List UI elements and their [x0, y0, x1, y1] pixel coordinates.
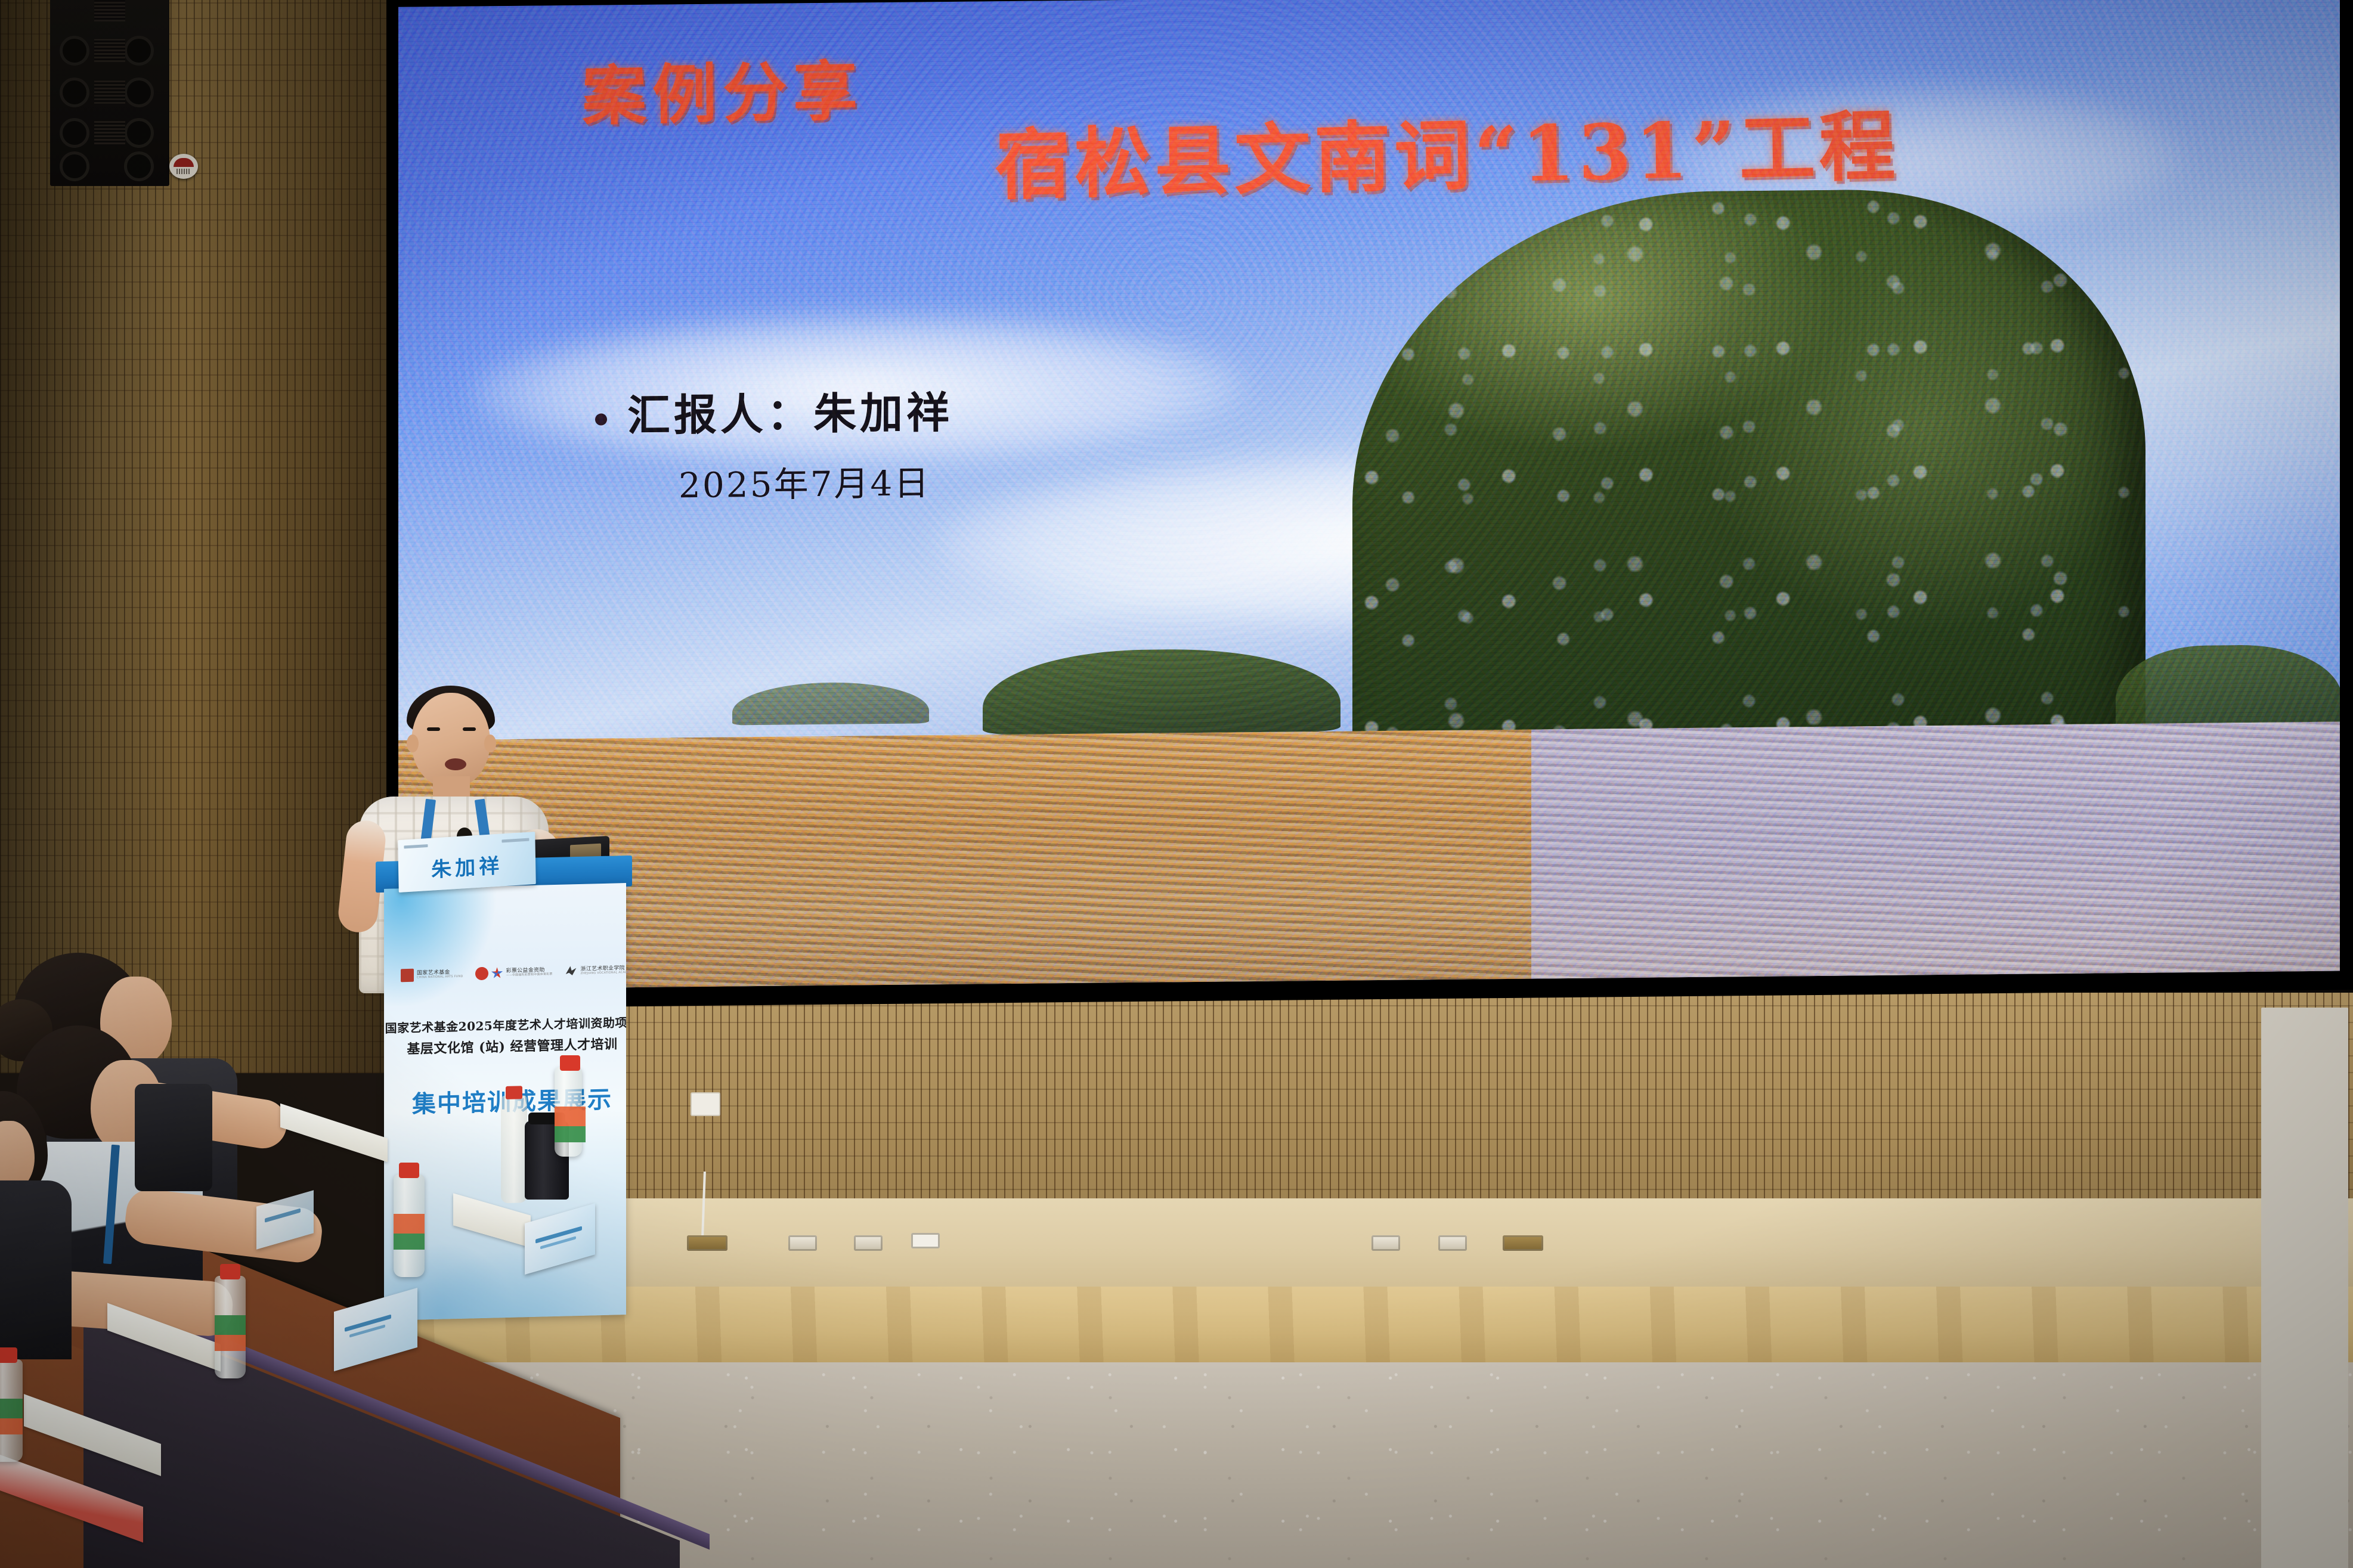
bottle-cap [399, 1163, 419, 1178]
screenshot-root: 案例分享 宿松县文南词“131”工程 汇报人：朱加祥 2025年7月4日 [0, 0, 2353, 1568]
presenter-name-card: 朱加祥 [398, 832, 536, 893]
wall-socket-plate [691, 1092, 720, 1116]
water-bottle [215, 1276, 246, 1378]
karst-hill-island [1352, 187, 2145, 794]
slide-section-label: 案例分享 [581, 58, 863, 131]
presenter-eye [463, 727, 476, 731]
audience-foreground [0, 942, 596, 1568]
chair-back [135, 1084, 212, 1191]
presenter-eye [427, 727, 440, 731]
audience-top [0, 1180, 72, 1359]
presenter-text: 汇报人：朱加祥 [627, 387, 953, 441]
handout-paper [453, 1193, 531, 1247]
bottle-label [555, 1107, 586, 1142]
tent-name-card [525, 1203, 595, 1275]
floor-outlet [1371, 1235, 1400, 1251]
handout-paper [280, 1104, 388, 1162]
presenter-name-text: 朱加祥 [398, 847, 536, 885]
presenter-head [411, 693, 490, 787]
floor-outlet [854, 1235, 883, 1251]
bottle-cap [0, 1347, 17, 1363]
speaker-grille [50, 0, 169, 186]
bottle-cap [220, 1264, 240, 1279]
fire-alarm-strobe-icon [169, 154, 198, 179]
tent-card-text [265, 1208, 301, 1223]
water-bottle [555, 1067, 582, 1157]
floor-outlet [788, 1235, 817, 1251]
slide-main-title: 宿松县文南词“131”工程 [994, 106, 1899, 206]
led-screen: 案例分享 宿松县文南词“131”工程 汇报人：朱加祥 2025年7月4日 [398, 0, 2340, 990]
presenter-ear [407, 735, 419, 752]
slide-date: 2025年7月4日 [679, 455, 930, 507]
bottle-cap [560, 1055, 580, 1071]
water-surface-reflection [1531, 722, 2340, 980]
water-bottle [0, 1359, 23, 1462]
slide-presenter-line: 汇报人：朱加祥 [595, 377, 953, 444]
stage-platform-face [411, 1287, 2353, 1364]
name-card-logo-mark [501, 838, 529, 842]
presenter-mouth [445, 758, 466, 770]
bottle-label [394, 1214, 425, 1250]
floor-outlet [911, 1233, 940, 1248]
led-screen-frame: 案例分享 宿松县文南词“131”工程 汇报人：朱加祥 2025年7月4日 [386, 0, 2353, 1009]
water-bottle [394, 1175, 425, 1277]
bottle-label [0, 1399, 23, 1434]
name-card-logo-mark [404, 844, 428, 848]
floor-outlet [687, 1235, 727, 1251]
presenter-ear [484, 735, 496, 752]
bullet-dot-icon [595, 413, 607, 425]
screen-control-plate [2261, 1008, 2348, 1568]
floor-outlet [1438, 1235, 1467, 1251]
floor-outlet [1503, 1235, 1543, 1251]
bottle-label [215, 1315, 246, 1351]
